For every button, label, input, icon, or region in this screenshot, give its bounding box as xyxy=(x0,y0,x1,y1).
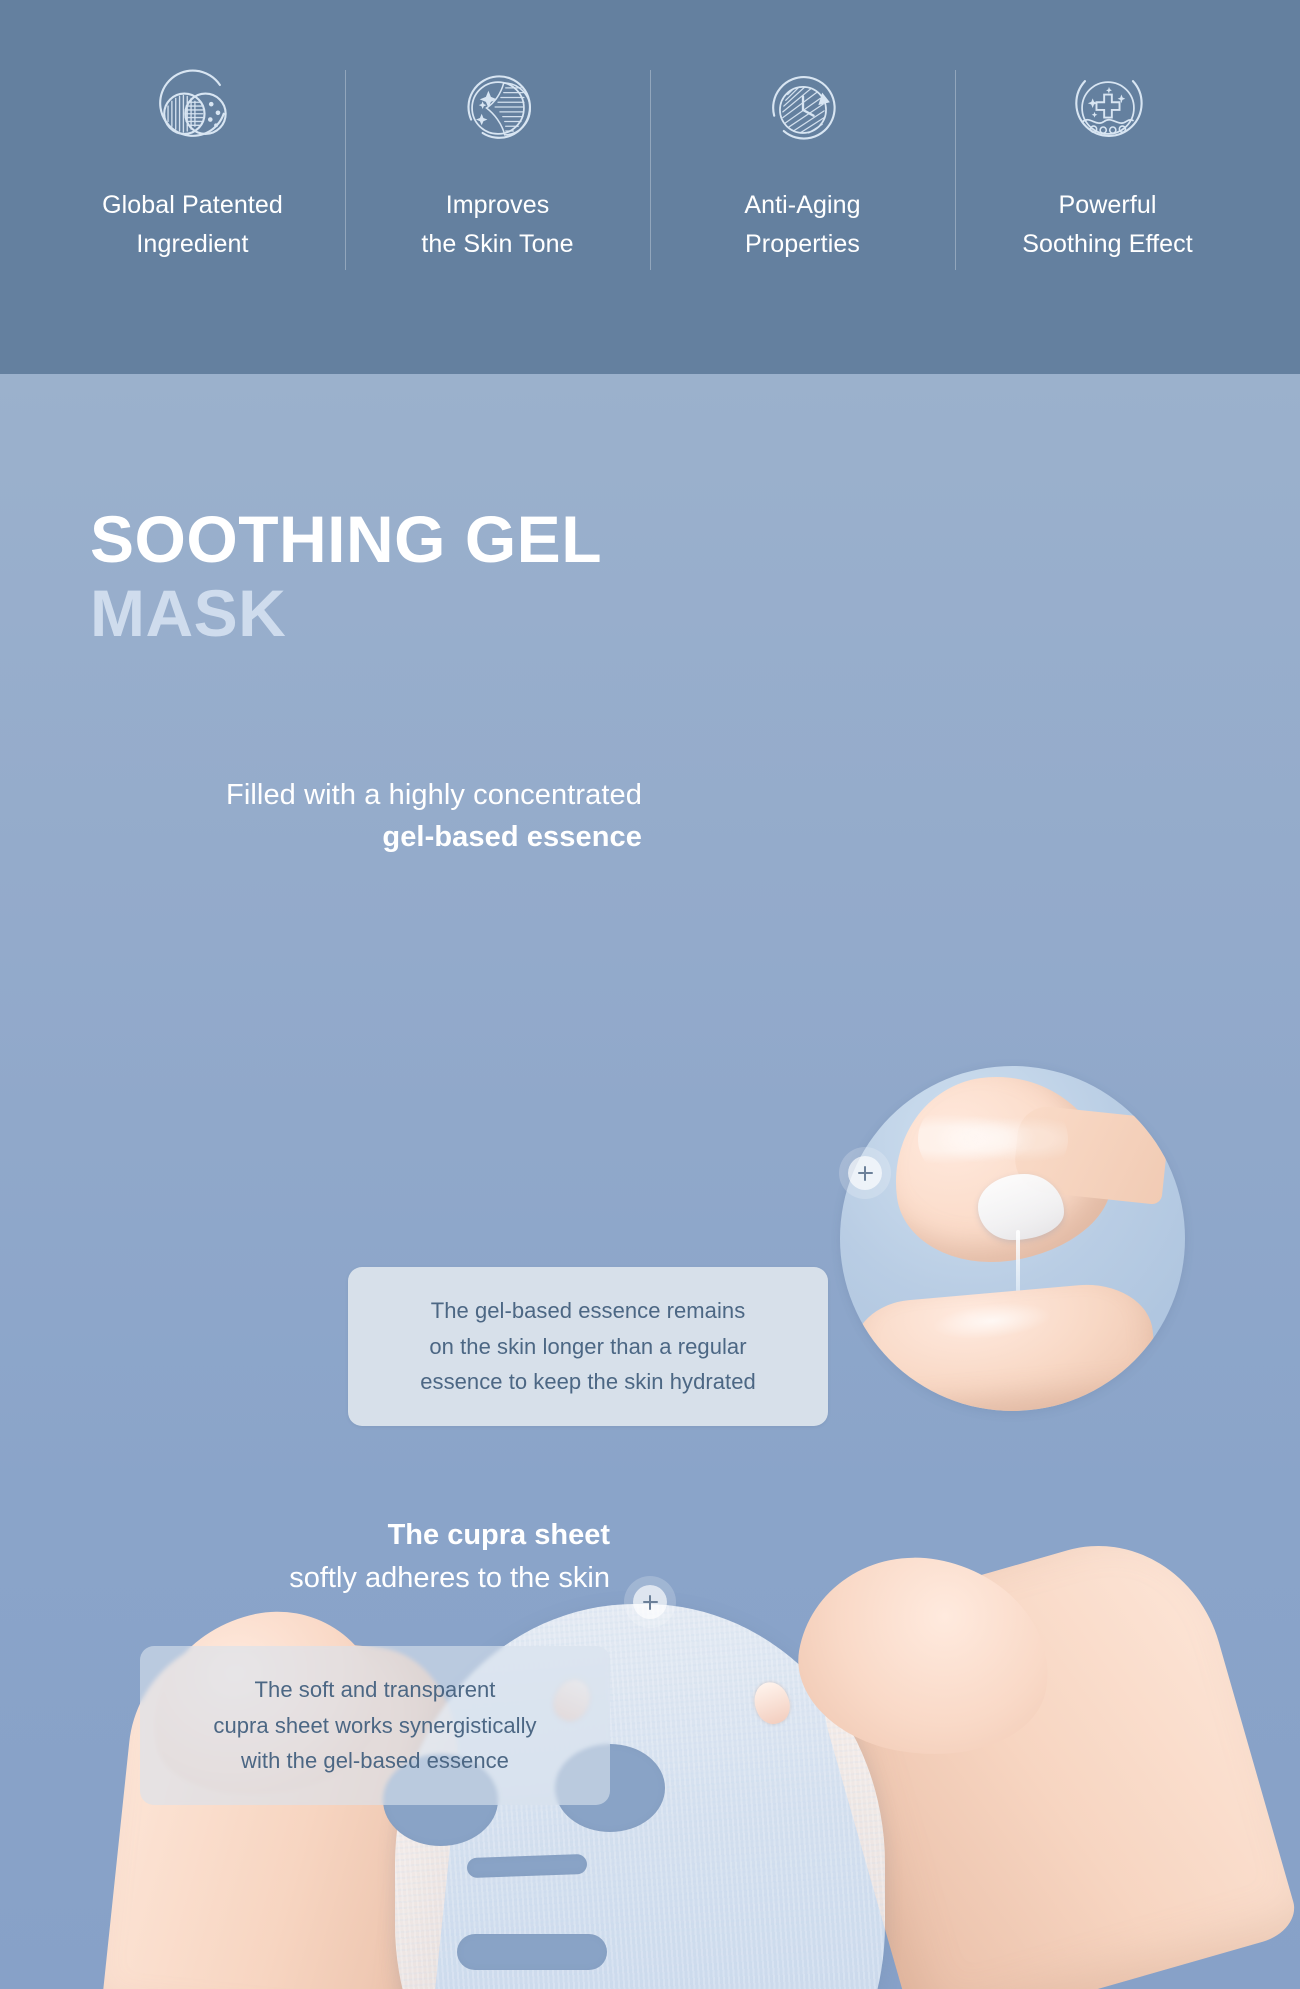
section1-info-box: The gel-based essence remains on the ski… xyxy=(348,1267,828,1426)
feature-item-anti-aging-properties: Anti-Aging Properties xyxy=(650,60,955,264)
section1-heading: Filled with a highly concentrated gel-ba… xyxy=(82,774,642,858)
section2-info-line1: The soft and transparent xyxy=(170,1672,580,1708)
skin-tone-sparkle-icon xyxy=(450,60,546,156)
section1-heading-line2: gel-based essence xyxy=(82,816,642,858)
product-infographic-page: Global Patented Ingredient xyxy=(0,0,1300,1989)
section2-heading-line2: softly adheres to the skin xyxy=(180,1557,610,1600)
plus-marker-section1[interactable] xyxy=(848,1156,882,1190)
feature-label-line1: Improves xyxy=(446,191,550,219)
knuckles-shading xyxy=(918,1100,1068,1178)
page-title-line2: MASK xyxy=(90,575,602,653)
main-content: SOOTHING GEL MASK Filled with a highly c… xyxy=(0,374,1300,1989)
section1-info-line1: The gel-based essence remains xyxy=(378,1293,798,1329)
open-palm-shape xyxy=(849,1279,1158,1411)
section2-info-box: The soft and transparent cupra sheet wor… xyxy=(140,1646,610,1805)
section1-info-line2: on the skin longer than a regular xyxy=(378,1329,798,1365)
feature-label-line1: Powerful xyxy=(1058,191,1156,219)
feature-label: Global Patented Ingredient xyxy=(102,186,283,264)
feature-item-improves-skin-tone: Improves the Skin Tone xyxy=(345,60,650,264)
mask-nose-slit xyxy=(467,1854,588,1878)
section2-info-line2: cupra sheet works synergistically xyxy=(170,1708,580,1744)
anti-aging-clock-icon xyxy=(755,60,851,156)
page-title-line1: SOOTHING GEL xyxy=(90,504,602,575)
section2-heading-line1: The cupra sheet xyxy=(180,1514,610,1557)
section1-heading-line1: Filled with a highly concentrated xyxy=(82,774,642,816)
feature-label-line2: Soothing Effect xyxy=(1022,230,1193,258)
mask-mouth-hole xyxy=(457,1934,607,1970)
feature-label: Anti-Aging Properties xyxy=(744,186,860,264)
plus-marker-section2[interactable] xyxy=(633,1585,667,1619)
feature-item-powerful-soothing-effect: Powerful Soothing Effect xyxy=(955,60,1260,264)
section1-info-line3: essence to keep the skin hydrated xyxy=(378,1364,798,1400)
gel-blob-shape xyxy=(978,1174,1064,1240)
gel-essence-photo xyxy=(840,1066,1185,1411)
section2-info-line3: with the gel-based essence xyxy=(170,1743,580,1779)
patented-ingredient-icon xyxy=(145,60,241,156)
feature-label-line2: Properties xyxy=(745,230,860,258)
page-title: SOOTHING GEL MASK xyxy=(90,504,602,653)
feature-label-line2: the Skin Tone xyxy=(421,230,573,258)
feature-label-line2: Ingredient xyxy=(136,230,248,258)
feature-label: Powerful Soothing Effect xyxy=(1022,186,1193,264)
feature-item-global-patented-ingredient: Global Patented Ingredient xyxy=(40,60,345,264)
section2-heading: The cupra sheet softly adheres to the sk… xyxy=(180,1514,610,1600)
soothing-effect-icon xyxy=(1060,60,1156,156)
feature-bar: Global Patented Ingredient xyxy=(0,0,1300,374)
feature-label-line1: Anti-Aging xyxy=(744,191,860,219)
feature-label: Improves the Skin Tone xyxy=(421,186,573,264)
feature-label-line1: Global Patented xyxy=(102,191,283,219)
